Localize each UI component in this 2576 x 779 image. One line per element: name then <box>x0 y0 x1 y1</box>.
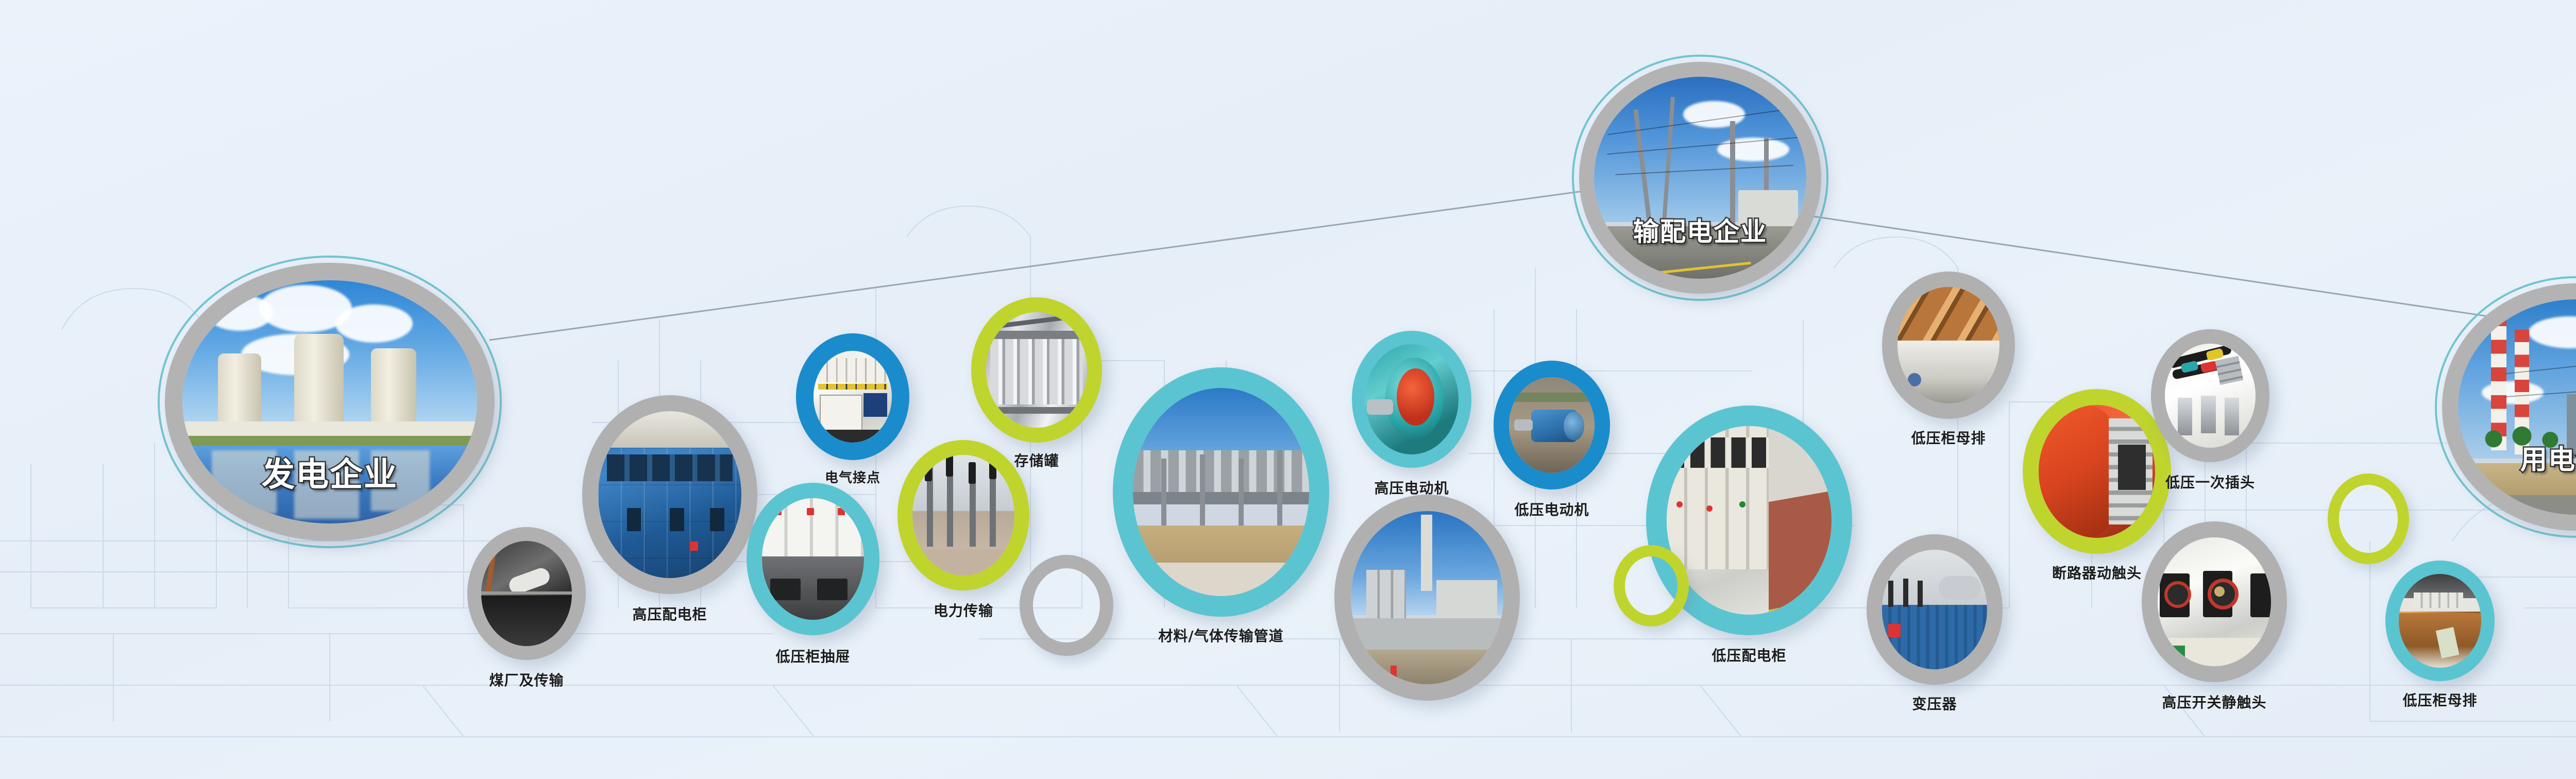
node-power-transmission[interactable]: 电力传输 <box>897 440 1029 590</box>
node-coal-plant-transport[interactable]: 煤厂及传输 <box>467 527 586 660</box>
photo-storage-tank <box>986 312 1087 428</box>
photo-lv-distribution-cabinet <box>1667 426 1832 615</box>
photo-lv-cabinet-drawer <box>762 498 864 620</box>
node-lv-cabinet-busbar-left[interactable]: 低压柜母排 <box>1882 272 2015 419</box>
hero-label-transmission-distribution: 输配电企业 <box>1633 211 1767 248</box>
ring-lv-cabinet-busbar-right[interactable] <box>2385 561 2495 681</box>
photo-lv-primary-plug <box>2165 344 2256 448</box>
photo-hv-distribution-cabinet <box>598 411 741 578</box>
label-coal-plant-transport: 煤厂及传输 <box>489 669 564 690</box>
label-lv-primary-plug: 低压一次插头 <box>2165 471 2255 492</box>
label-transformer: 变压器 <box>1912 693 1957 714</box>
ring-electrical-contact[interactable] <box>796 333 909 460</box>
ring-lv-primary-plug[interactable] <box>2151 329 2269 462</box>
label-lv-cabinet-busbar-right: 低压柜母排 <box>2402 689 2477 710</box>
ring-transformer[interactable] <box>1867 534 2003 685</box>
node-plant-facility[interactable] <box>1334 495 1520 701</box>
node-storage-tank[interactable]: 存储罐 <box>971 297 1102 443</box>
node-hv-motor[interactable]: 高压电动机 <box>1352 331 1471 468</box>
label-lv-motor: 低压电动机 <box>1514 499 1589 519</box>
photo-transformer <box>1882 550 1987 669</box>
photo-power-transmission <box>912 455 1014 575</box>
decorative-ring-grey-mid <box>1020 555 1113 656</box>
label-lv-cabinet-drawer: 低压柜抽屉 <box>775 646 850 666</box>
photo-hv-motor <box>1365 344 1459 454</box>
ring-lv-cabinet-drawer[interactable] <box>747 483 879 635</box>
label-hv-switch-static-contact: 高压开关静触头 <box>2162 691 2266 712</box>
label-lv-distribution-cabinet: 低压配电柜 <box>1711 645 1786 665</box>
photo-lv-motor <box>1509 377 1595 473</box>
ring-hv-motor[interactable] <box>1352 331 1471 468</box>
ring-hv-switch-static-contact[interactable] <box>2142 521 2287 682</box>
hero-photo-transmission-distribution <box>1594 77 1806 279</box>
node-hv-distribution-cabinet[interactable]: 高压配电柜 <box>582 395 757 594</box>
hero-ring-power-generation[interactable] <box>165 263 495 541</box>
photo-electrical-contact <box>814 351 892 443</box>
node-electrical-contact[interactable]: 电气接点 <box>796 333 909 460</box>
ring-material-gas-pipeline[interactable] <box>1113 367 1329 617</box>
hero-node-power-generation[interactable]: 发电企业 <box>165 263 495 541</box>
hero-node-transmission-distribution[interactable]: 输配电企业 <box>1579 62 1821 294</box>
ring-grey-mid-shape <box>1020 555 1113 656</box>
ring-lv-motor[interactable] <box>1494 361 1610 489</box>
node-hv-switch-static-contact[interactable]: 高压开关静触头 <box>2142 521 2287 682</box>
photo-material-gas-pipeline <box>1133 388 1309 596</box>
photo-lv-cabinet-busbar-right <box>2399 574 2481 668</box>
hero-label-power-consumption: 用电企业 <box>2520 438 2576 477</box>
ring-lv-cabinet-busbar-left[interactable] <box>1882 272 2015 419</box>
hero-node-power-consumption[interactable]: 用电企业 <box>2442 283 2576 531</box>
photo-hv-switch-static-contact <box>2158 537 2271 666</box>
ring-coal-plant-transport[interactable] <box>467 527 586 660</box>
label-hv-distribution-cabinet: 高压配电柜 <box>632 603 707 624</box>
ring-hv-distribution-cabinet[interactable] <box>582 395 757 594</box>
decorative-ring-lime-right <box>2328 473 2409 564</box>
ring-lime-mid-shape <box>1614 545 1689 626</box>
decorative-ring-lime-mid <box>1614 545 1689 626</box>
node-material-gas-pipeline[interactable]: 材料/气体传输管道 <box>1113 367 1329 617</box>
label-lv-cabinet-busbar-left: 低压柜母排 <box>1911 427 1986 448</box>
photo-coal-plant-transport <box>481 541 572 646</box>
node-lv-cabinet-drawer[interactable]: 低压柜抽屉 <box>747 483 879 635</box>
ring-power-transmission[interactable] <box>897 440 1029 590</box>
ring-plant-facility[interactable] <box>1334 495 1520 701</box>
hero-ring-power-consumption[interactable] <box>2442 283 2576 531</box>
infographic-canvas: 发电企业 <box>0 0 2576 779</box>
label-power-transmission: 电力传输 <box>934 600 993 620</box>
ring-storage-tank[interactable] <box>971 297 1102 443</box>
node-lv-primary-plug[interactable]: 低压一次插头 <box>2151 329 2269 462</box>
photo-breaker-moving-contact <box>2039 405 2155 538</box>
node-lv-motor[interactable]: 低压电动机 <box>1494 361 1610 489</box>
node-lv-cabinet-busbar-right[interactable]: 低压柜母排 <box>2385 561 2495 681</box>
node-transformer[interactable]: 变压器 <box>1867 534 2003 685</box>
photo-lv-cabinet-busbar-left <box>1897 287 1999 403</box>
label-material-gas-pipeline: 材料/气体传输管道 <box>1158 625 1283 646</box>
hero-photo-power-consumption <box>2458 299 2576 515</box>
hero-label-power-generation: 发电企业 <box>262 448 398 496</box>
ring-lime-right-shape <box>2328 473 2409 564</box>
photo-plant-facility <box>1351 511 1503 684</box>
label-breaker-moving-contact: 断路器动触头 <box>2052 562 2142 583</box>
hero-ring-transmission-distribution[interactable] <box>1579 62 1821 294</box>
